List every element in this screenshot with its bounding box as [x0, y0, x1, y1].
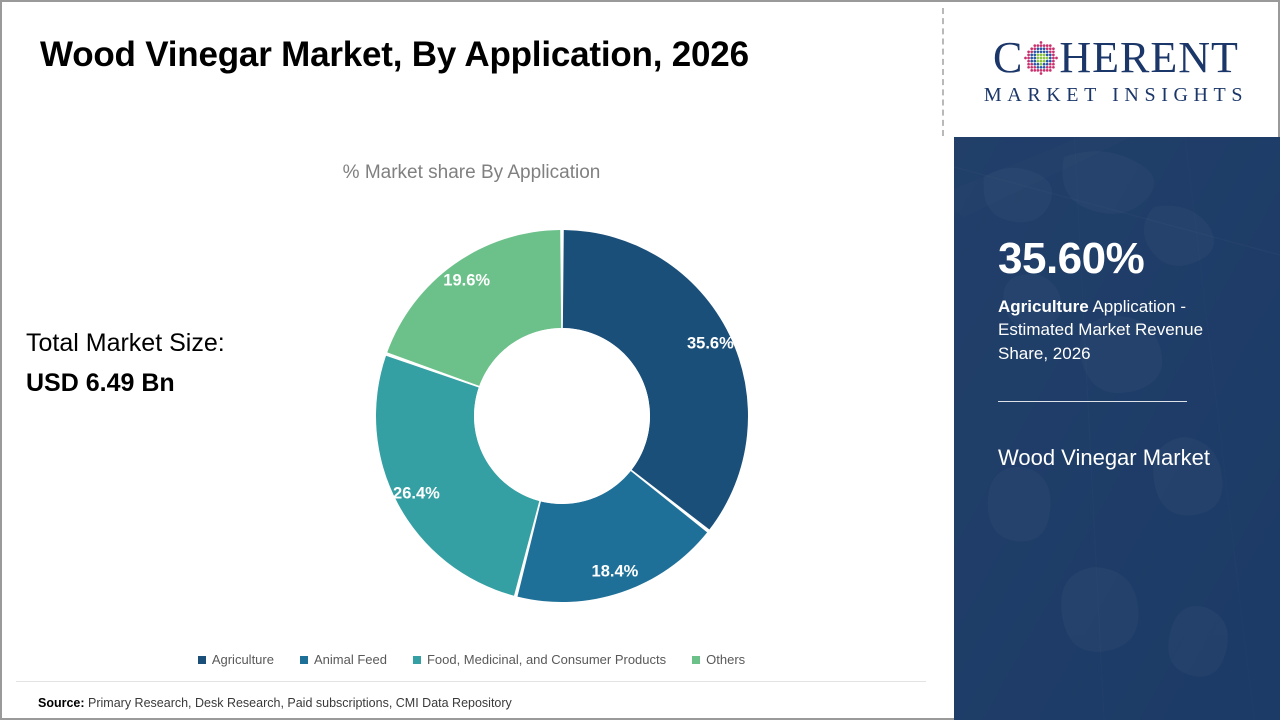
legend-label: Animal Feed	[314, 652, 387, 667]
highlight-stat-emphasis: Agriculture	[998, 297, 1089, 316]
logo-letters-rest: HERENT	[1059, 36, 1239, 80]
highlight-panel: 35.60% Agriculture Application - Estimat…	[954, 137, 1280, 720]
footer-divider	[16, 681, 926, 682]
source-text: Primary Research, Desk Research, Paid su…	[88, 696, 512, 710]
legend-swatch-icon	[198, 656, 206, 664]
source-note: Source: Primary Research, Desk Research,…	[38, 696, 512, 710]
legend-label: Agriculture	[212, 652, 274, 667]
logo-letter-c: C	[993, 36, 1023, 80]
source-label: Source:	[38, 696, 85, 710]
donut-hole	[474, 328, 650, 504]
legend-swatch-icon	[692, 656, 700, 664]
donut-chart-svg	[376, 230, 748, 602]
highlight-stat-description: Agriculture Application - Estimated Mark…	[998, 295, 1248, 365]
legend-item[interactable]: Agriculture	[198, 652, 274, 667]
donut-slice-label: 35.6%	[687, 334, 734, 353]
main-content-area: Wood Vinegar Market, By Application, 202…	[2, 2, 941, 718]
chart-legend: AgricultureAnimal FeedFood, Medicinal, a…	[2, 652, 941, 667]
legend-label: Food, Medicinal, and Consumer Products	[427, 652, 666, 667]
legend-item[interactable]: Others	[692, 652, 745, 667]
chart-subtitle: % Market share By Application	[2, 162, 941, 184]
vertical-dashed-divider	[942, 8, 944, 136]
legend-label: Others	[706, 652, 745, 667]
donut-slice-label: 19.6%	[443, 272, 490, 291]
legend-swatch-icon	[300, 656, 308, 664]
legend-item[interactable]: Animal Feed	[300, 652, 387, 667]
page-title: Wood Vinegar Market, By Application, 202…	[40, 35, 749, 75]
brand-logo: C HERENT MARKET INSIGHTS	[954, 6, 1278, 136]
total-market-size-value: USD 6.49 Bn	[26, 364, 225, 404]
logo-wordmark: C HERENT	[993, 35, 1239, 81]
infographic-root: Wood Vinegar Market, By Application, 202…	[0, 0, 1280, 720]
donut-slice-label: 26.4%	[393, 484, 440, 503]
total-market-size-label: Total Market Size:	[26, 324, 225, 364]
donut-chart: 35.6%18.4%26.4%19.6%	[376, 230, 748, 602]
legend-swatch-icon	[413, 656, 421, 664]
donut-slice-label: 18.4%	[592, 563, 639, 582]
panel-rule	[998, 401, 1187, 402]
highlight-stat-value: 35.60%	[998, 237, 1248, 281]
globe-icon	[1024, 41, 1058, 75]
report-name: Wood Vinegar Market	[998, 440, 1248, 476]
total-market-size: Total Market Size: USD 6.49 Bn	[26, 324, 225, 403]
legend-item[interactable]: Food, Medicinal, and Consumer Products	[413, 652, 666, 667]
logo-subtitle: MARKET INSIGHTS	[984, 84, 1248, 107]
panel-content: 35.60% Agriculture Application - Estimat…	[998, 237, 1248, 476]
